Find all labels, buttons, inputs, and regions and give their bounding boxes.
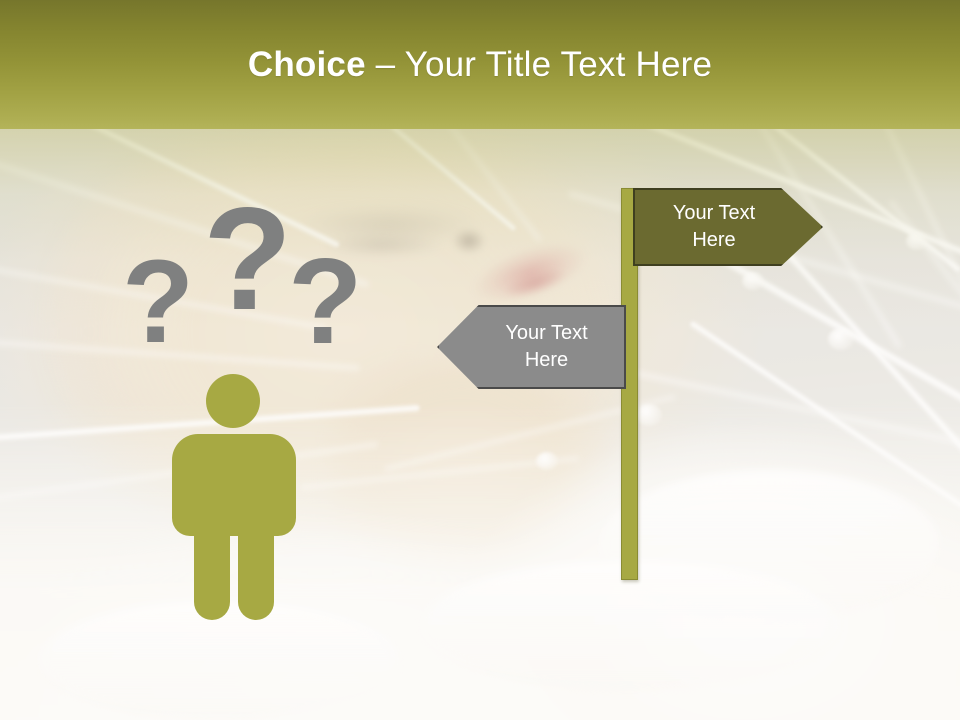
slide-canvas: ? ? ? Your Text Here Your Text Here Choi… xyxy=(0,0,960,720)
sign-olive-line2: Here xyxy=(692,227,735,254)
slide-header-bar: Choice – Your Title Text Here xyxy=(0,0,960,129)
page-title-rest: – Your Title Text Here xyxy=(366,45,712,84)
person-pictogram xyxy=(172,374,296,620)
question-mark-icon: ? xyxy=(122,243,194,361)
person-head xyxy=(206,374,260,428)
person-leg-left xyxy=(194,524,230,620)
sign-gray-line2: Here xyxy=(525,347,568,374)
person-leg-right xyxy=(238,524,274,620)
person-body xyxy=(172,434,296,536)
page-title-bold: Choice xyxy=(248,45,366,84)
question-mark-icon: ? xyxy=(203,186,292,332)
question-mark-icon: ? xyxy=(288,240,363,362)
sign-gray-line1: Your Text xyxy=(505,320,587,347)
sign-olive-line1: Your Text xyxy=(673,200,755,227)
page-title: Choice – Your Title Text Here xyxy=(248,45,712,85)
